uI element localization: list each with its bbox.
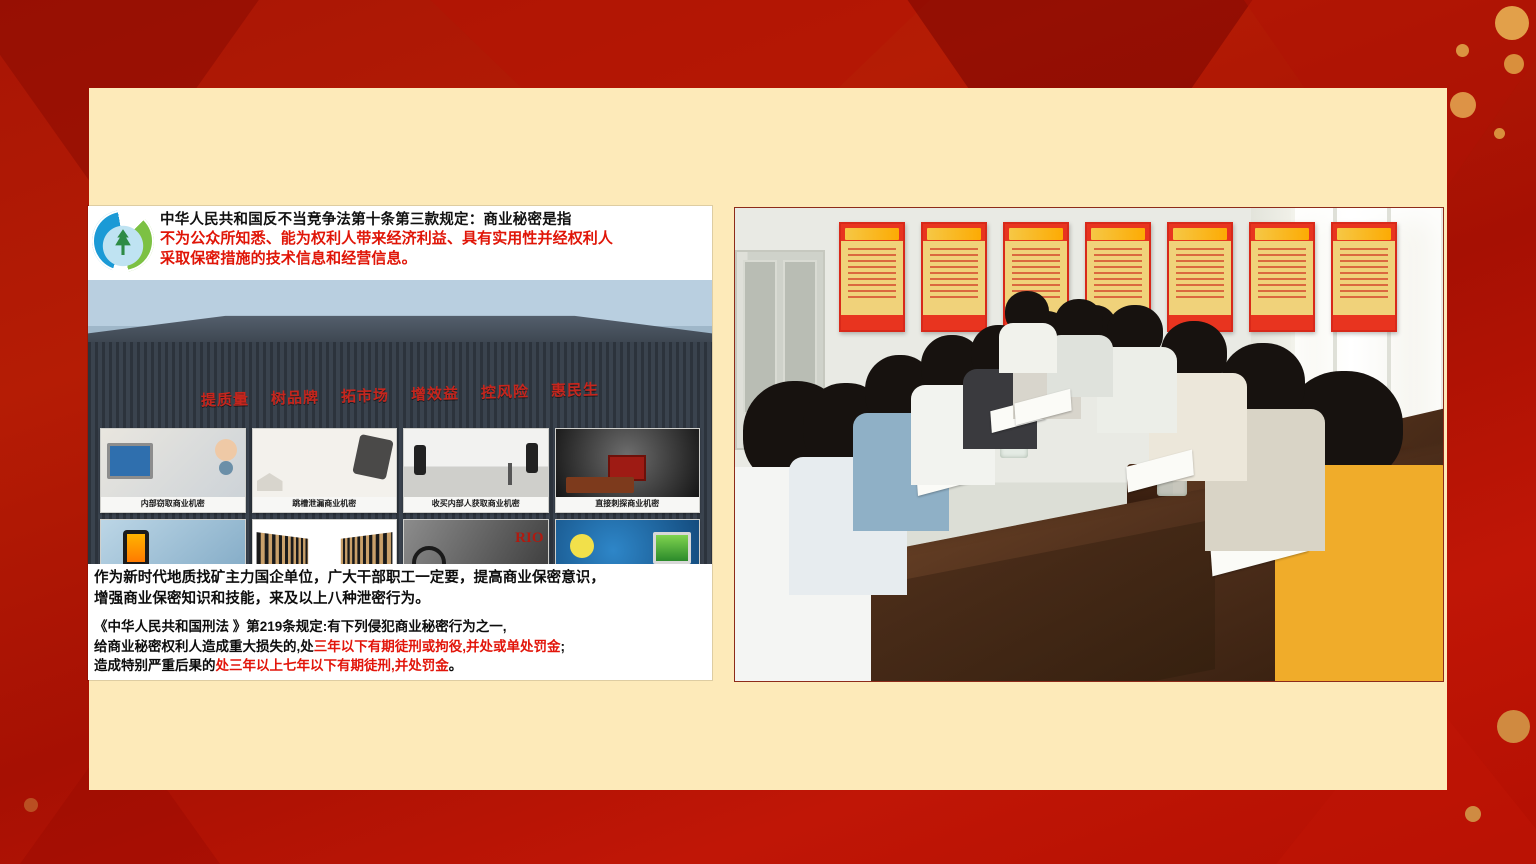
leak-cell: 直接刺探商业机密: [555, 428, 701, 513]
poster-lines: [1258, 248, 1306, 250]
law-line-2-penalty: 三年以下有期徒刑或拘役,并处或单处罚金: [314, 639, 561, 654]
leak-illustration-icon: [101, 520, 245, 564]
law-heading-red-line2: 采取保密措施的技术信息和经营信息。: [160, 249, 706, 269]
seated-person: [999, 291, 1057, 373]
decor-dot-10: [24, 798, 38, 812]
law-line-2: 给商业秘密权利人造成重大损失的,处三年以下有期徒刑或拘役,并处或单处罚金;: [94, 637, 706, 657]
law-line-3-suffix: 。: [449, 658, 463, 673]
poster-lines: [1176, 248, 1224, 250]
law-heading-black: 中华人民共和国反不当竞争法第十条第三款规定：商业秘密是指: [160, 211, 706, 229]
poster-lines: [1012, 248, 1060, 250]
company-logo-icon: [92, 210, 154, 272]
leak-caption: 内部窃取商业机密: [101, 497, 245, 512]
slide-root: 中华人民共和国反不当竞争法第十条第三款规定：商业秘密是指 不为公众所知悉、能为权…: [0, 0, 1536, 864]
poster-header-icon: [927, 228, 981, 240]
leak-caption: 收买内部人获取商业机密: [404, 497, 548, 512]
slogan-4: 控风险: [481, 380, 530, 402]
leak-caption: 跳槽泄漏商业机密: [253, 497, 397, 512]
leak-caption: 直接刺探商业机密: [556, 497, 700, 512]
decor-dot-6: [1450, 92, 1476, 118]
leak-cell: 偷梁换柱获取商业机密: [403, 519, 549, 564]
leak-illustration-icon: [253, 520, 397, 564]
leak-cell: 跳槽泄漏商业机密: [252, 428, 398, 513]
leak-illustration-icon: [404, 520, 548, 564]
leak-illustration-icon: [556, 520, 700, 564]
body-line-2: 增强商业保密知识和技能，来及以上八种泄密行为。: [94, 589, 706, 610]
poster-lines: [1094, 248, 1142, 250]
wall-poster: [839, 222, 905, 332]
leak-cell: 网络活动获取商业机密: [555, 519, 701, 564]
slogan-3: 增效益: [411, 382, 460, 404]
law-line-3: 造成特别严重后果的处三年以上七年以下有期徒刑,并处罚金。: [94, 656, 706, 676]
leak-illustration-icon: [556, 429, 700, 497]
decor-dot-1: [1495, 6, 1529, 40]
leak-illustration-icon: [253, 429, 397, 497]
poster-header-icon: [1091, 228, 1145, 240]
slogan-2: 拓市场: [341, 384, 390, 406]
slogan-0: 提质量: [201, 388, 250, 410]
poster-header-icon: [1173, 228, 1227, 240]
text-spacer: [94, 610, 706, 617]
wall-poster: [921, 222, 987, 332]
decor-dot-7: [1494, 128, 1505, 139]
decor-dot-3: [1456, 44, 1469, 57]
law-line-2-prefix: 给商业秘密权利人造成重大损失的,处: [94, 639, 314, 654]
body-line-1: 作为新时代地质找矿主力国企单位，广大干部职工一定要，提高商业保密意识，: [94, 568, 706, 589]
law-definition-header: 中华人民共和国反不当竞争法第十条第三款规定：商业秘密是指 不为公众所知悉、能为权…: [88, 206, 712, 280]
wall-poster: [1249, 222, 1315, 332]
meeting-room-photo: [734, 207, 1444, 682]
factory-wall-photo: 提质量 树品牌 拓市场 增效益 控风险 惠民生 内部窃取商业机密 跳槽泄漏商业机…: [88, 280, 712, 564]
poster-lines: [930, 248, 978, 250]
leak-types-grid: 内部窃取商业机密 跳槽泄漏商业机密 收买内部人获取商业机密 直接刺探商业机密 保…: [100, 428, 700, 564]
slogan-1: 树品牌: [271, 386, 320, 408]
law-line-1: 《中华人民共和国刑法 》第219条规定:有下列侵犯商业秘密行为之一,: [94, 617, 706, 637]
leak-illustration-icon: [404, 429, 548, 497]
poster-header-icon: [1337, 228, 1391, 240]
decor-dot-2: [1504, 54, 1524, 74]
decor-dot-8: [1497, 710, 1530, 743]
law-line-2-suffix: ;: [561, 639, 566, 654]
leak-cell: 保密不当泄漏商业机密商业机密: [100, 519, 246, 564]
poster-lines: [848, 248, 896, 250]
law-definition-text: 中华人民共和国反不当竞争法第十条第三款规定：商业秘密是指 不为公众所知悉、能为权…: [160, 210, 706, 268]
left-bottom-text-block: 作为新时代地质找矿主力国企单位，广大干部职工一定要，提高商业保密意识， 增强商业…: [88, 564, 712, 680]
slogan-5: 惠民生: [551, 378, 600, 400]
poster-header-icon: [1255, 228, 1309, 240]
poster-header-icon: [845, 228, 899, 240]
law-line-3-prefix: 造成特别严重后果的: [94, 658, 216, 673]
left-composite-image: 中华人民共和国反不当竞争法第十条第三款规定：商业秘密是指 不为公众所知悉、能为权…: [88, 206, 712, 680]
person-body: [999, 323, 1057, 373]
leak-cell: 收买内部人获取商业机密: [403, 428, 549, 513]
leak-illustration-icon: [101, 429, 245, 497]
decor-dot-9: [1465, 806, 1481, 822]
law-line-3-penalty: 处三年以上七年以下有期徒刑,并处罚金: [216, 658, 449, 673]
law-heading-red-line1: 不为公众所知悉、能为权利人带来经济利益、具有实用性并经权利人: [160, 229, 706, 249]
leak-cell: 内部窃取商业机密: [100, 428, 246, 513]
wall-poster: [1331, 222, 1397, 332]
poster-lines: [1340, 248, 1388, 250]
poster-header-icon: [1009, 228, 1063, 240]
leak-cell: 出版不当泄漏商业机密: [252, 519, 398, 564]
